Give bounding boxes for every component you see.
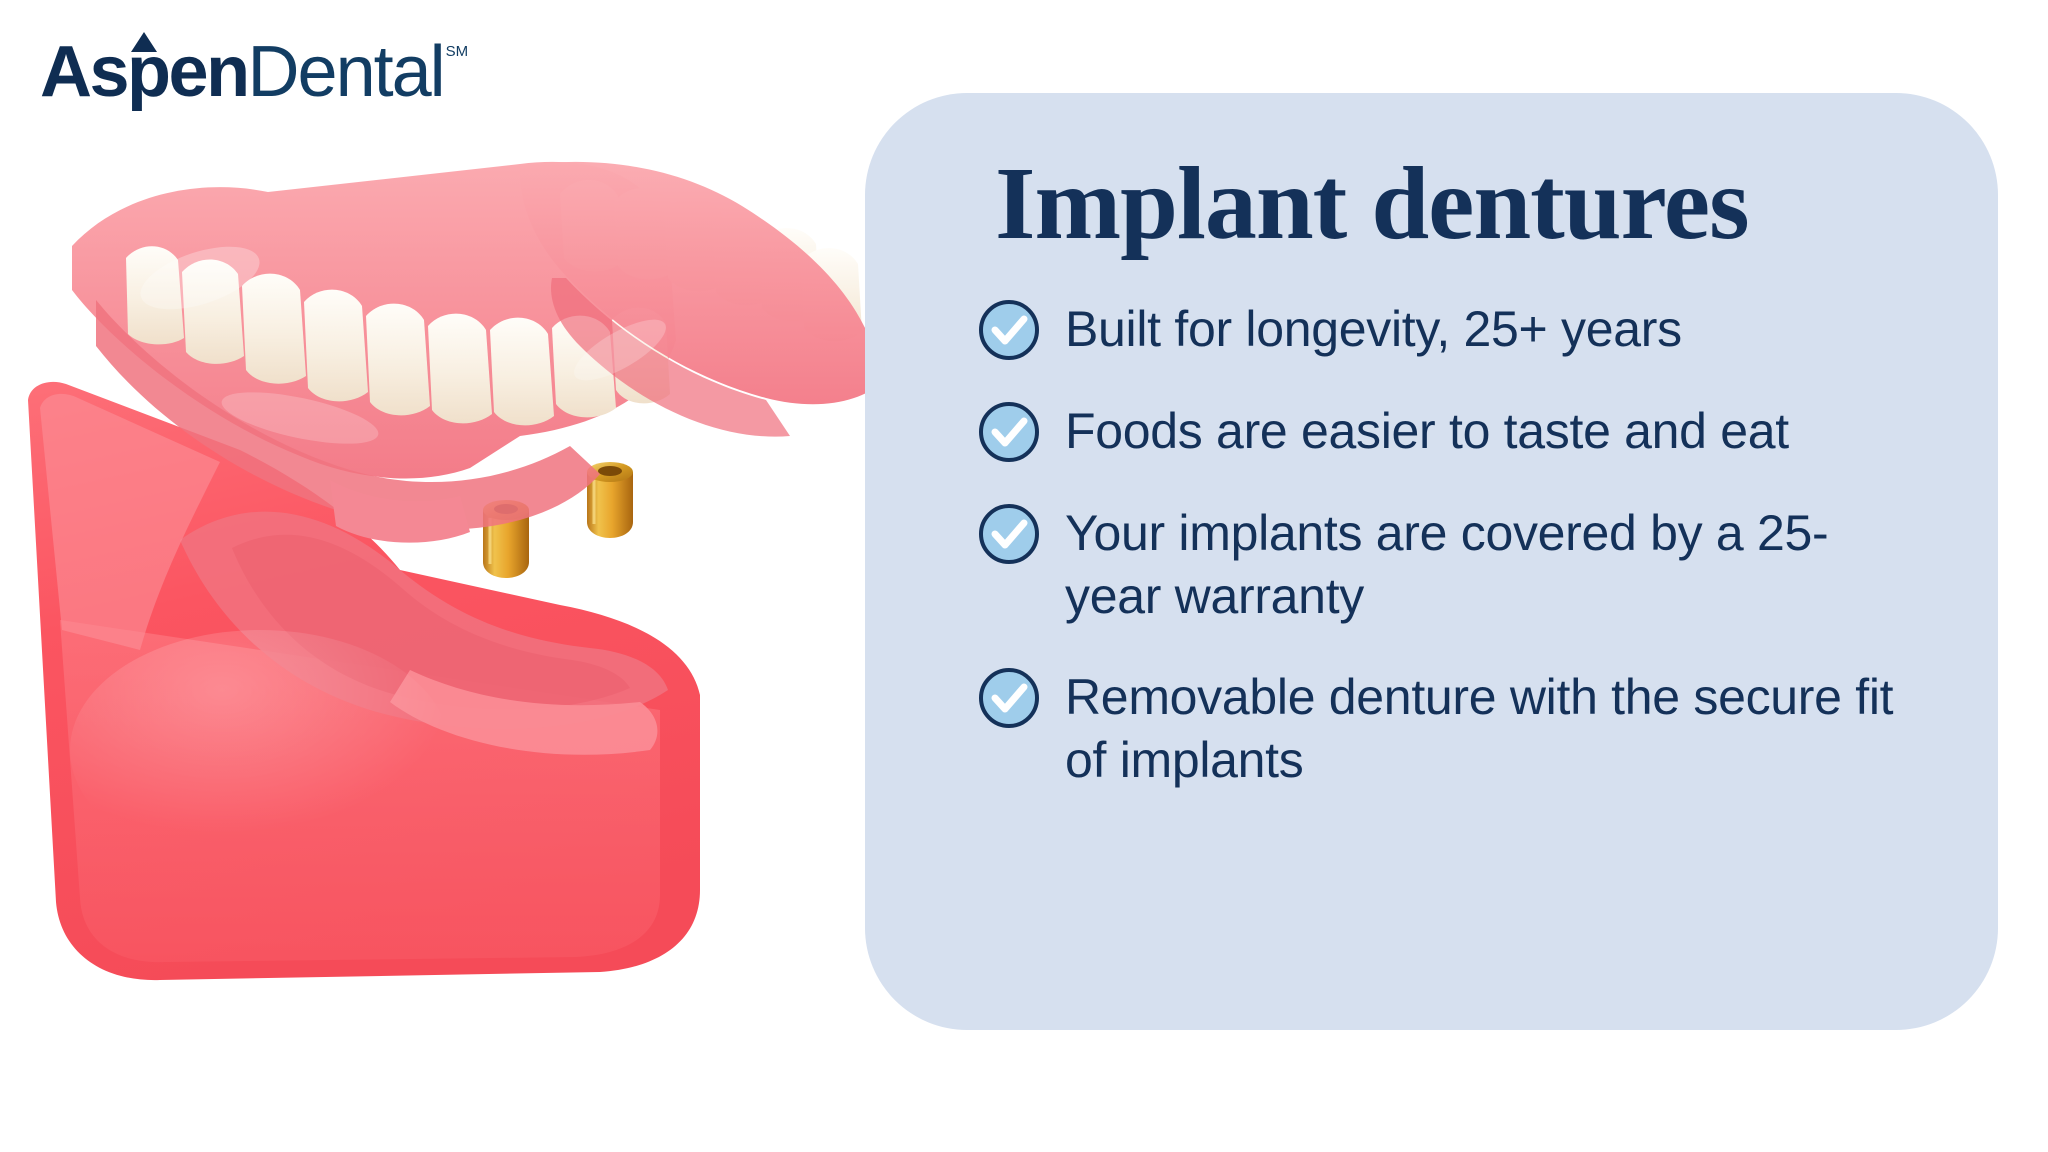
list-item-label: Built for longevity, 25+ years bbox=[1065, 296, 1682, 361]
logo-a-circumflex-wrap: Aspen bbox=[40, 36, 248, 108]
list-item-label: Foods are easier to taste and eat bbox=[1065, 398, 1789, 463]
list-item: Removable denture with the secure fit of… bbox=[977, 664, 1938, 792]
list-item: Foods are easier to taste and eat bbox=[977, 398, 1938, 464]
check-circle-icon bbox=[977, 502, 1041, 566]
benefits-panel: Implant dentures Built for longevity, 25… bbox=[865, 93, 1998, 1030]
list-item: Your implants are covered by a 25-year w… bbox=[977, 500, 1938, 628]
page-title: Implant dentures bbox=[995, 149, 1938, 258]
aspen-dental-logo: Aspen Dental SM bbox=[40, 36, 468, 108]
implant-denture-photo bbox=[0, 150, 940, 1020]
list-item-label: Your implants are covered by a 25-year w… bbox=[1065, 500, 1895, 628]
logo-dental-text: Dental bbox=[248, 36, 444, 108]
list-item: Built for longevity, 25+ years bbox=[977, 296, 1938, 362]
check-circle-icon bbox=[977, 298, 1041, 362]
list-item-label: Removable denture with the secure fit of… bbox=[1065, 664, 1895, 792]
circumflex-accent-icon bbox=[131, 32, 157, 52]
check-circle-icon bbox=[977, 400, 1041, 464]
logo-service-mark: SM bbox=[446, 44, 469, 59]
benefits-list: Built for longevity, 25+ years Foods are… bbox=[977, 296, 1938, 792]
check-circle-icon bbox=[977, 666, 1041, 730]
promotional-graphic: Aspen Dental SM bbox=[0, 0, 2048, 1152]
